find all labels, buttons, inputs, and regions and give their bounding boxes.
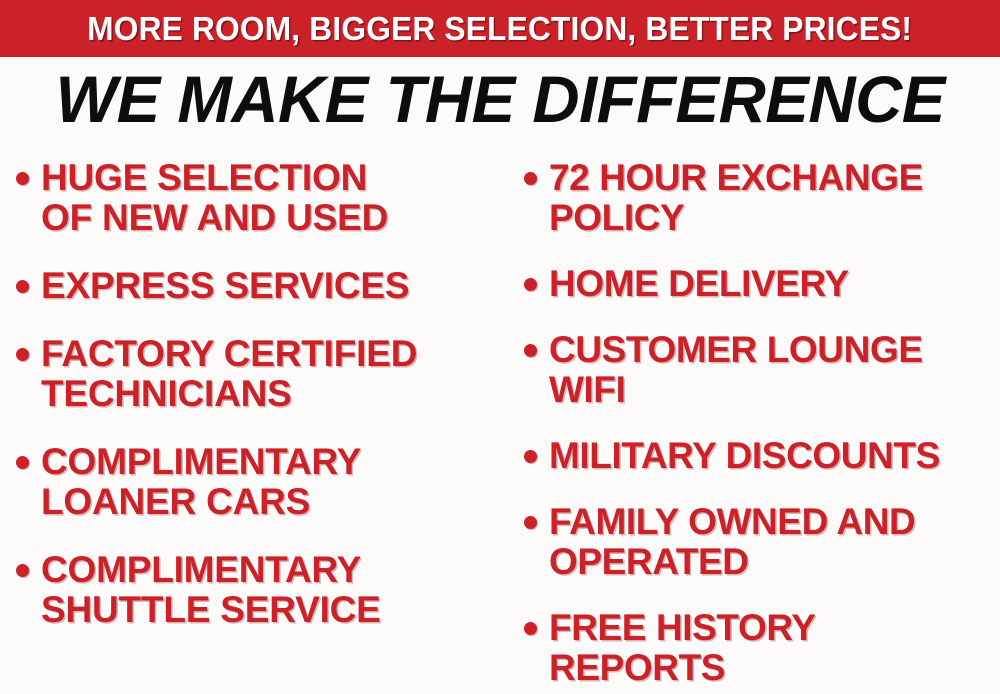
bullet-dot-icon [16, 456, 29, 469]
dealership-benefits-poster: MORE ROOM, BIGGER SELECTION, BETTER PRIC… [0, 0, 1000, 694]
benefit-label: MILITARY DISCOUNTS [549, 436, 940, 476]
list-item: HUGE SELECTION OF NEW AND USED [16, 158, 505, 238]
list-item: CUSTOMER LOUNGE WIFI [524, 330, 1000, 410]
list-item: HOME DELIVERY [524, 264, 1000, 304]
list-item: FAMILY OWNED AND OPERATED [524, 502, 1000, 582]
bullet-dot-icon [524, 516, 537, 529]
benefit-label: FACTORY CERTIFIED TECHNICIANS [41, 334, 417, 414]
banner-headline: MORE ROOM, BIGGER SELECTION, BETTER PRIC… [88, 12, 913, 45]
benefit-label: COMPLIMENTARY LOANER CARS [41, 442, 361, 522]
benefit-label: HOME DELIVERY [549, 264, 849, 304]
list-item: COMPLIMENTARY SHUTTLE SERVICE [16, 550, 505, 630]
benefits-column-right: 72 HOUR EXCHANGE POLICY HOME DELIVERY CU… [505, 158, 1000, 694]
bullet-dot-icon [16, 564, 29, 577]
benefit-label: CUSTOMER LOUNGE WIFI [549, 330, 923, 410]
bullet-dot-icon [524, 622, 537, 635]
bullet-dot-icon [16, 172, 29, 185]
benefit-label: 72 HOUR EXCHANGE POLICY [549, 158, 923, 238]
bullet-dot-icon [524, 278, 537, 291]
benefit-label: FAMILY OWNED AND OPERATED [549, 502, 915, 582]
benefit-label: HUGE SELECTION OF NEW AND USED [41, 158, 388, 238]
list-item: FACTORY CERTIFIED TECHNICIANS [16, 334, 505, 414]
bullet-dot-icon [524, 344, 537, 357]
benefit-label: EXPRESS SERVICES [41, 266, 409, 306]
bullet-dot-icon [524, 172, 537, 185]
list-item: 72 HOUR EXCHANGE POLICY [524, 158, 1000, 238]
list-item: EXPRESS SERVICES [16, 266, 505, 306]
list-item: COMPLIMENTARY LOANER CARS [16, 442, 505, 522]
benefits-columns: HUGE SELECTION OF NEW AND USED EXPRESS S… [0, 158, 1000, 694]
benefit-label: FREE HISTORY REPORTS [549, 608, 816, 688]
main-headline-container: WE MAKE THE DIFFERENCE [0, 66, 1000, 132]
page-title: WE MAKE THE DIFFERENCE [55, 66, 944, 132]
benefits-column-left: HUGE SELECTION OF NEW AND USED EXPRESS S… [0, 158, 505, 658]
bullet-dot-icon [16, 348, 29, 361]
list-item: FREE HISTORY REPORTS [524, 608, 1000, 688]
bullet-dot-icon [524, 450, 537, 463]
top-banner: MORE ROOM, BIGGER SELECTION, BETTER PRIC… [0, 0, 1000, 57]
list-item: MILITARY DISCOUNTS [524, 436, 1000, 476]
benefit-label: COMPLIMENTARY SHUTTLE SERVICE [41, 550, 381, 630]
bullet-dot-icon [16, 280, 29, 293]
